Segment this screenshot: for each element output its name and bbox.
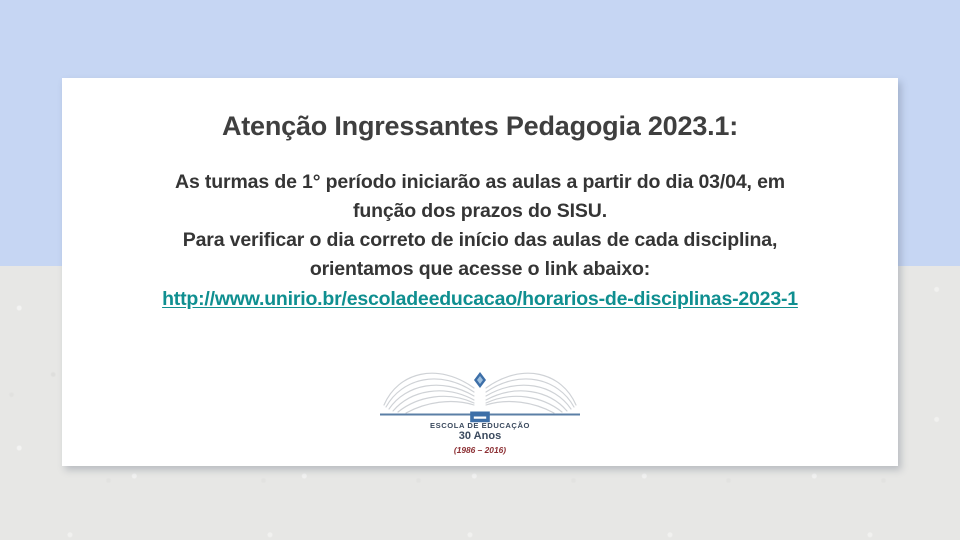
page-title: Atenção Ingressantes Pedagogia 2023.1: xyxy=(62,78,898,142)
announcement-card: Atenção Ingressantes Pedagogia 2023.1: A… xyxy=(62,78,898,466)
card-content: Atenção Ingressantes Pedagogia 2023.1: A… xyxy=(62,78,898,314)
logo-school-name: ESCOLA DE EDUCAÇÃO xyxy=(62,422,898,430)
open-book-logo-icon xyxy=(376,356,584,424)
logo-anniversary: 30 Anos xyxy=(62,431,898,443)
body-line-1: As turmas de 1° período iniciarão as aul… xyxy=(80,168,880,197)
announcement-body: As turmas de 1° período iniciarão as aul… xyxy=(62,142,898,314)
body-line-4: orientamos que acesse o link abaixo: xyxy=(80,255,880,284)
logo-years: (1986 – 2016) xyxy=(62,446,898,455)
body-line-2: função dos prazos do SISU. xyxy=(80,197,880,226)
slide-canvas: Atenção Ingressantes Pedagogia 2023.1: A… xyxy=(0,0,960,540)
logo-caption: ESCOLA DE EDUCAÇÃO 30 Anos (1986 – 2016) xyxy=(62,422,898,454)
diamond-ornament xyxy=(474,372,486,388)
school-logo: ESCOLA DE EDUCAÇÃO 30 Anos (1986 – 2016) xyxy=(62,356,898,454)
schedule-link[interactable]: http://www.unirio.br/escoladeeducacao/ho… xyxy=(80,285,880,314)
body-line-3: Para verificar o dia correto de início d… xyxy=(80,226,880,255)
